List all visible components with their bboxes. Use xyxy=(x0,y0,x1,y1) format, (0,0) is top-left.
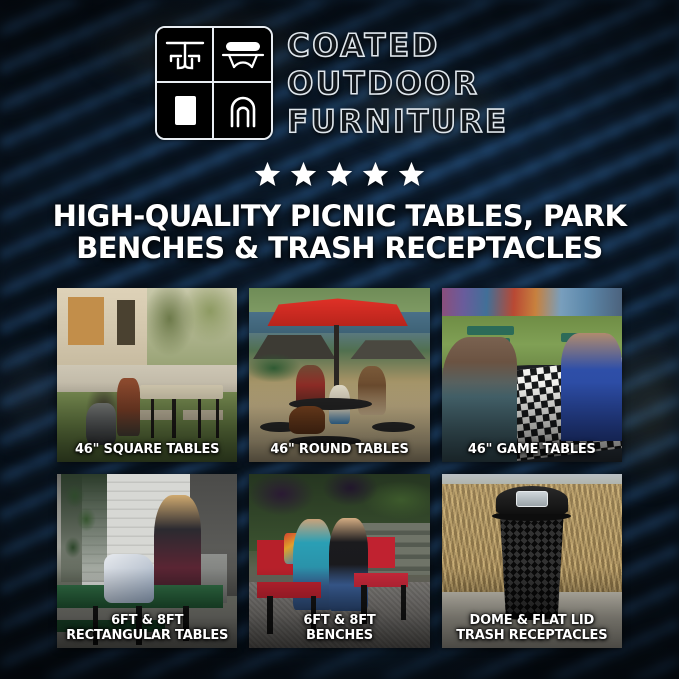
brand-wordmark: COATED OUTDOOR FURNITURE xyxy=(287,26,509,141)
product-banner: COATED OUTDOOR FURNITURE HIGH-QUALITY PI… xyxy=(0,0,679,679)
star-icon-1 xyxy=(253,160,282,189)
product-caption-round-tables: 46" ROUND TABLES xyxy=(252,443,426,458)
product-tile-square-tables[interactable]: 46" SQUARE TABLES xyxy=(57,288,237,462)
product-tile-round-tables[interactable]: 46" ROUND TABLES xyxy=(249,288,429,462)
product-tile-rectangular-tables[interactable]: 6FT & 8FT RECTANGULAR TABLES xyxy=(57,474,237,648)
star-rating xyxy=(0,160,679,189)
brand-logo-mark xyxy=(155,26,273,140)
brand-logo: COATED OUTDOOR FURNITURE xyxy=(155,26,535,146)
trash-receptacle-icon xyxy=(157,83,214,138)
product-caption-rectangular-tables: 6FT & 8FT RECTANGULAR TABLES xyxy=(60,614,234,643)
star-icon-5 xyxy=(397,160,426,189)
picnic-table-side-icon xyxy=(214,28,271,83)
product-caption-game-tables: 46" GAME TABLES xyxy=(445,443,619,458)
star-icon-4 xyxy=(361,160,390,189)
product-tile-benches[interactable]: 6FT & 8FT BENCHES xyxy=(249,474,429,648)
headline: HIGH-QUALITY PICNIC TABLES, PARK BENCHES… xyxy=(38,200,641,264)
product-grid: 46" SQUARE TABLES 46" ROUND TABLE xyxy=(57,288,622,648)
product-tile-game-tables[interactable]: 46" GAME TABLES xyxy=(442,288,622,462)
banner-content: COATED OUTDOOR FURNITURE HIGH-QUALITY PI… xyxy=(0,0,679,679)
product-caption-square-tables: 46" SQUARE TABLES xyxy=(60,443,234,458)
product-tile-trash-receptacles[interactable]: DOME & FLAT LID TRASH RECEPTACLES xyxy=(442,474,622,648)
headline-line-1: HIGH-QUALITY PICNIC TABLES, PARK xyxy=(38,200,641,232)
brand-name-line-1: COATED xyxy=(287,28,509,65)
bike-rack-arch-icon xyxy=(214,83,271,138)
brand-name-line-3: FURNITURE xyxy=(287,104,509,141)
picnic-table-front-icon xyxy=(157,28,214,83)
brand-name-line-2: OUTDOOR xyxy=(287,66,509,103)
star-icon-2 xyxy=(289,160,318,189)
headline-line-2: BENCHES & TRASH RECEPTACLES xyxy=(38,232,641,264)
star-icon-3 xyxy=(325,160,354,189)
product-caption-benches: 6FT & 8FT BENCHES xyxy=(252,614,426,643)
product-caption-trash-receptacles: DOME & FLAT LID TRASH RECEPTACLES xyxy=(445,614,619,643)
